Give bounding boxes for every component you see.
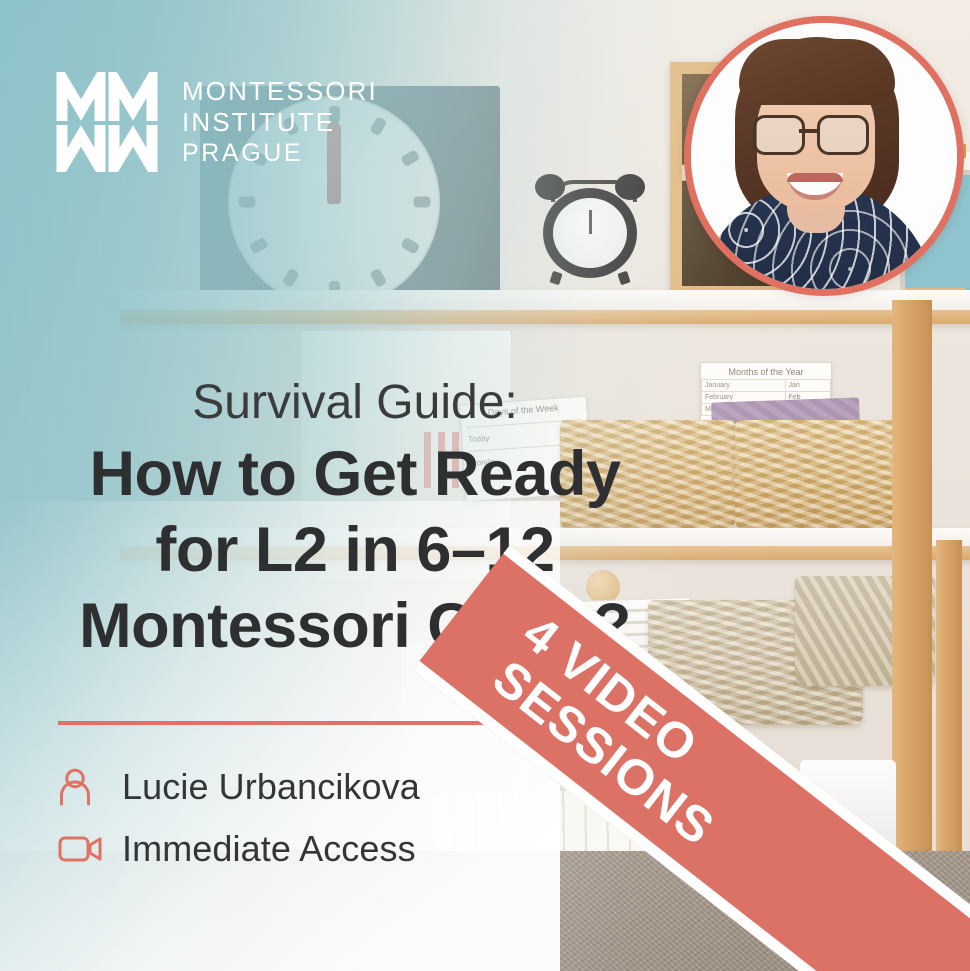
ribbon-clip: 4 VIDEO SESSIONS bbox=[0, 0, 970, 971]
ribbon-text: 4 VIDEO SESSIONS bbox=[428, 565, 757, 856]
promo-card: Days of the Week Today Monday Months of … bbox=[0, 0, 970, 971]
video-sessions-ribbon: 4 VIDEO SESSIONS bbox=[413, 545, 970, 971]
